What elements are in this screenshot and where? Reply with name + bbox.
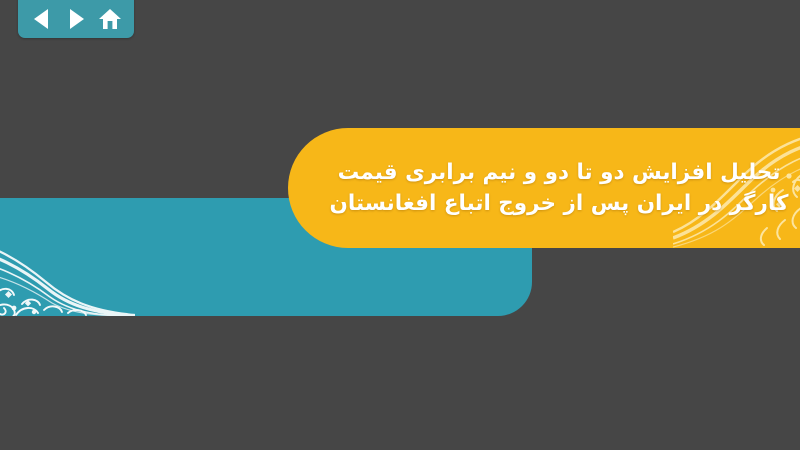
home-button[interactable] (97, 6, 123, 32)
teal-arabesque-ornament (0, 198, 135, 316)
navigation-bar (18, 0, 134, 38)
headline-line-2: کارگر در ایران پس از خروج اتباع افغانستا… (328, 188, 790, 219)
slide-canvas: تحلیل افزایش دو تا دو و نیم برابری قیمت … (0, 0, 800, 450)
back-button[interactable] (29, 6, 55, 32)
back-triangle-icon (32, 8, 52, 30)
forward-triangle-icon (66, 8, 86, 30)
forward-button[interactable] (63, 6, 89, 32)
home-icon (98, 8, 122, 31)
orange-banner: تحلیل افزایش دو تا دو و نیم برابری قیمت … (288, 128, 800, 248)
headline-line-1: تحلیل افزایش دو تا دو و نیم برابری قیمت (328, 157, 790, 188)
headline: تحلیل افزایش دو تا دو و نیم برابری قیمت … (288, 157, 800, 219)
